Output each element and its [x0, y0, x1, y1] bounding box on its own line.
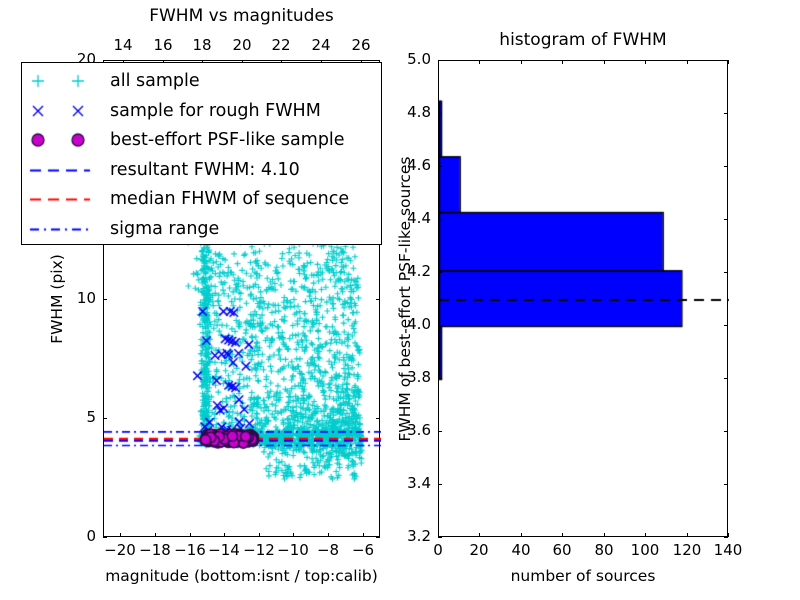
- histogram-yticklabel: 3.4: [407, 476, 431, 491]
- histogram-ytick-right: [724, 166, 728, 167]
- scatter-ytick: [103, 299, 107, 300]
- scatter-xticklabel: −12: [243, 543, 275, 558]
- histogram-xticklabel: 140: [714, 543, 743, 558]
- histogram-yticklabel: 3.8: [407, 370, 431, 385]
- histogram-yticklabel: 5.0: [407, 52, 431, 67]
- scatter-ytick-right: [376, 418, 380, 419]
- histogram-xticklabel: 40: [511, 543, 530, 558]
- scatter-xtick: [259, 533, 260, 537]
- histogram-ytick-right: [724, 378, 728, 379]
- scatter-plot-title: FWHM vs magnitudes: [149, 6, 334, 26]
- histogram-yticklabel: 4.8: [407, 105, 431, 120]
- plus-icon: [22, 66, 106, 96]
- legend-marker-dashed-line-icon: [22, 155, 106, 185]
- scatter-topticklabel: 22: [271, 38, 290, 53]
- legend-label: best-effort PSF-like sample: [110, 127, 345, 153]
- legend-marker-plus-icon: [22, 66, 106, 96]
- histogram-yticklabel: 4.4: [407, 211, 431, 226]
- histogram-xticklabel: 20: [469, 543, 488, 558]
- legend-box: all samplesample for rough FWHMbest-effo…: [21, 62, 382, 245]
- histogram-x-axis-label: number of sources: [511, 567, 656, 585]
- scatter-ytick: [103, 537, 107, 538]
- histogram-ytick: [438, 166, 442, 167]
- dashdot-line-icon: [22, 214, 106, 244]
- scatter-x-axis-label: magnitude (bottom:isnt / top:calib): [105, 567, 378, 585]
- histogram-ytick: [438, 325, 442, 326]
- scatter-topticklabel: 26: [351, 38, 370, 53]
- legend-label: all sample: [110, 68, 200, 94]
- legend-entry-1: sample for rough FWHM: [22, 96, 381, 126]
- histogram-ytick: [438, 60, 442, 61]
- histogram-xtick-top: [645, 60, 646, 64]
- histogram-xtick: [479, 533, 480, 537]
- histogram-ytick-right: [724, 219, 728, 220]
- scatter-ytick-right: [376, 299, 380, 300]
- legend-label: median FHWM of sequence: [110, 186, 349, 212]
- histogram-xticklabel: 60: [552, 543, 571, 558]
- legend-label: sigma range: [110, 216, 219, 242]
- histogram-xtick-top: [562, 60, 563, 64]
- scatter-topticklabel: 24: [311, 38, 330, 53]
- scatter-ytick-right: [376, 537, 380, 538]
- scatter-xticklabel: −14: [208, 543, 240, 558]
- histogram-xtick-top: [604, 60, 605, 64]
- scatter-yticklabel: 0: [86, 529, 96, 544]
- legend-label: sample for rough FWHM: [110, 98, 321, 124]
- scatter-ytick-right: [376, 60, 380, 61]
- histogram-ytick: [438, 484, 442, 485]
- histogram-xtick: [687, 533, 688, 537]
- histogram-ytick-right: [724, 272, 728, 273]
- scatter-ytick: [103, 418, 107, 419]
- legend-marker-filled-circle-icon: [22, 125, 106, 155]
- histogram-yticklabel: 3.6: [407, 423, 431, 438]
- histogram-xtick: [645, 533, 646, 537]
- scatter-ytick: [103, 60, 107, 61]
- histogram-yticklabel: 4.2: [407, 264, 431, 279]
- scatter-xtick: [155, 533, 156, 537]
- legend-entry-3: resultant FWHM: 4.10: [22, 155, 381, 185]
- scatter-xtick: [190, 533, 191, 537]
- scatter-xticklabel: −10: [277, 543, 309, 558]
- histogram-xticklabel: 120: [673, 543, 702, 558]
- histogram-xtick-top: [521, 60, 522, 64]
- histogram-ytick: [438, 431, 442, 432]
- histogram-ytick-right: [724, 537, 728, 538]
- histogram-ytick-right: [724, 60, 728, 61]
- figure-canvas: FWHM vs magnitudes magnitude (bottom:isn…: [0, 0, 800, 600]
- legend-marker-dashdot-line-icon: [22, 214, 106, 244]
- scatter-xtick: [363, 533, 364, 537]
- histogram-ytick: [438, 378, 442, 379]
- histogram-xtick: [521, 533, 522, 537]
- histogram-ytick-right: [724, 431, 728, 432]
- legend-marker-dashed-line-icon: [22, 184, 106, 214]
- legend-entry-0: all sample: [22, 66, 381, 96]
- scatter-yticklabel: 5: [86, 410, 96, 425]
- scatter-xticklabel: −16: [174, 543, 206, 558]
- scatter-y-axis-label: FWHM (pix): [48, 254, 66, 344]
- histogram-yticklabel: 4.6: [407, 158, 431, 173]
- histogram-xtick: [562, 533, 563, 537]
- histogram-ytick-right: [724, 484, 728, 485]
- scatter-xtick: [328, 533, 329, 537]
- histogram-ytick: [438, 537, 442, 538]
- histogram-data-layer: [439, 61, 729, 538]
- scatter-xticklabel: −8: [317, 543, 339, 558]
- dashed-line-icon: [22, 184, 106, 214]
- histogram-xticklabel: 100: [631, 543, 660, 558]
- cross-x-icon: [22, 96, 106, 126]
- histogram-y-axis-label: FWHM of best-effort PSF-like sources: [396, 156, 414, 441]
- histogram-ytick-right: [724, 113, 728, 114]
- scatter-xticklabel: −18: [139, 543, 171, 558]
- scatter-xticklabel: −20: [104, 543, 136, 558]
- scatter-topticklabel: 20: [232, 38, 251, 53]
- dashed-line-icon: [22, 155, 106, 185]
- histogram-xtick: [728, 533, 729, 537]
- legend-entry-2: best-effort PSF-like sample: [22, 125, 381, 155]
- scatter-topticklabel: 16: [153, 38, 172, 53]
- histogram-ytick-right: [724, 325, 728, 326]
- scatter-xticklabel: −6: [352, 543, 374, 558]
- histogram-yticklabel: 3.2: [407, 529, 431, 544]
- histogram-xtick-top: [728, 60, 729, 64]
- legend-entry-4: median FHWM of sequence: [22, 184, 381, 214]
- histogram-ytick: [438, 272, 442, 273]
- legend-entry-5: sigma range: [22, 214, 381, 244]
- scatter-xtick: [120, 533, 121, 537]
- histogram-xticklabel: 0: [433, 543, 443, 558]
- histogram-plot-area[interactable]: [438, 60, 728, 537]
- histogram-xtick: [604, 533, 605, 537]
- scatter-xtick: [224, 533, 225, 537]
- histogram-ytick: [438, 219, 442, 220]
- scatter-topticklabel: 18: [192, 38, 211, 53]
- scatter-xtick: [293, 533, 294, 537]
- filled-circle-icon: [22, 125, 106, 155]
- histogram-ytick: [438, 113, 442, 114]
- histogram-xtick-top: [687, 60, 688, 64]
- scatter-yticklabel: 10: [77, 291, 96, 306]
- histogram-yticklabel: 4.0: [407, 317, 431, 332]
- legend-label: resultant FWHM: 4.10: [110, 157, 300, 183]
- scatter-topticklabel: 14: [113, 38, 132, 53]
- histogram-plot-title: histogram of FWHM: [499, 30, 666, 50]
- legend-marker-cross-x-icon: [22, 96, 106, 126]
- histogram-xtick-top: [479, 60, 480, 64]
- histogram-xticklabel: 80: [594, 543, 613, 558]
